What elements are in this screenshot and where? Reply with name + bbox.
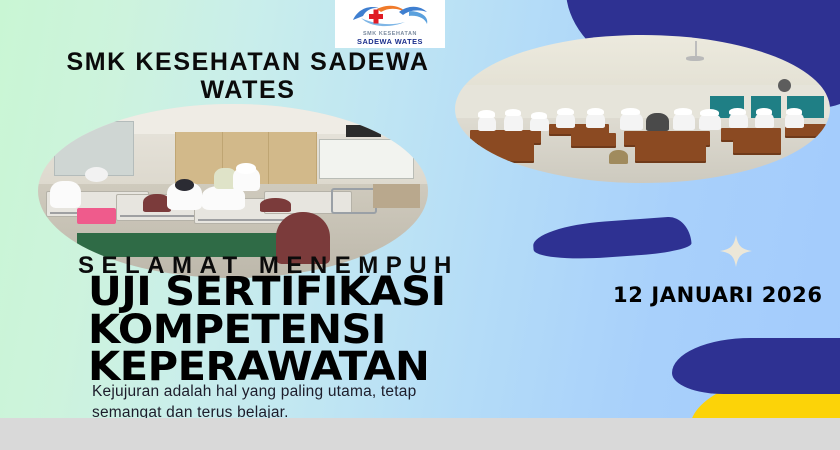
navy-petal-shape [532,216,692,263]
poster-canvas: SMK KESEHATAN SADEWA WATES SMK KESEHATAN… [0,0,840,418]
poster-screenshot: SMK KESEHATAN SADEWA WATES SMK KESEHATAN… [0,0,840,450]
classroom-photo [455,35,830,183]
school-name-heading: SMK KESEHATAN SADEWA WATES [18,48,478,104]
navy-bottom-blob [672,338,840,394]
event-date: 12 JANUARI 2026 [613,283,823,307]
title-line-1: UJI SERTIFIKASI [88,274,446,312]
school-logo: SMK KESEHATAN SADEWA WATES [335,0,445,48]
bottom-bar [0,418,840,450]
main-title: UJI SERTIFIKASI KOMPETENSI KEPERAWATAN [88,274,446,387]
red-cross-swoosh-icon [347,2,433,32]
tagline-line-2: semangat dan terus belajar. [92,403,662,418]
tagline-line-1: Kejujuran adalah hal yang paling utama, … [92,382,662,403]
sparkle-star [716,231,756,271]
tagline: Kejujuran adalah hal yang paling utama, … [92,382,662,418]
logo-line-2: SADEWA WATES [335,38,445,45]
